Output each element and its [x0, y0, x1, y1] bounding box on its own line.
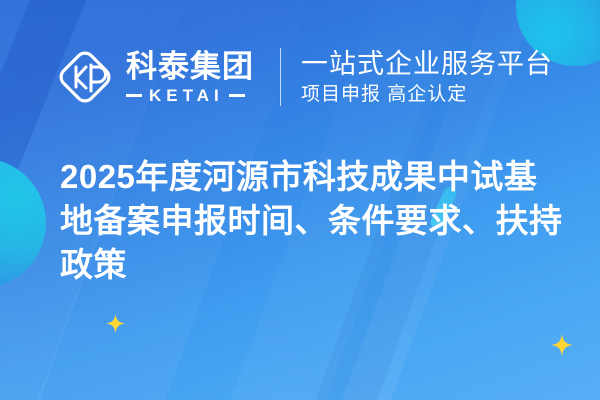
- page-title: 2025年度河源市科技成果中试基地备案申报时间、条件要求、扶持政策: [60, 155, 570, 287]
- logo-dash-right: [229, 94, 245, 97]
- sparkle-star-right: [551, 334, 573, 356]
- tagline-sub-text: 项目申报 高企认定: [301, 83, 553, 107]
- promo-banner: 科泰集团 KETAI 一站式企业服务平台 项目申报 高企认定 2025年度河源市…: [0, 0, 600, 400]
- logo-company-name-en: KETAI: [149, 87, 224, 105]
- cyan-circle-left: [0, 158, 46, 288]
- logo-dash-left: [126, 94, 142, 97]
- logo-company-name-cn: 科泰集团: [126, 50, 254, 84]
- logo-company-name-en-row: KETAI: [126, 87, 254, 105]
- tagline-main-text: 一站式企业服务平台: [301, 48, 553, 80]
- banner-header: 科泰集团 KETAI 一站式企业服务平台 项目申报 高企认定: [56, 42, 553, 112]
- header-tagline: 一站式企业服务平台 项目申报 高企认定: [301, 48, 553, 107]
- logo-wordmark: 科泰集团 KETAI: [126, 50, 254, 105]
- sparkle-star-left: [106, 314, 125, 333]
- ketai-diamond-logo-icon: [56, 48, 114, 106]
- header-divider: [280, 48, 281, 106]
